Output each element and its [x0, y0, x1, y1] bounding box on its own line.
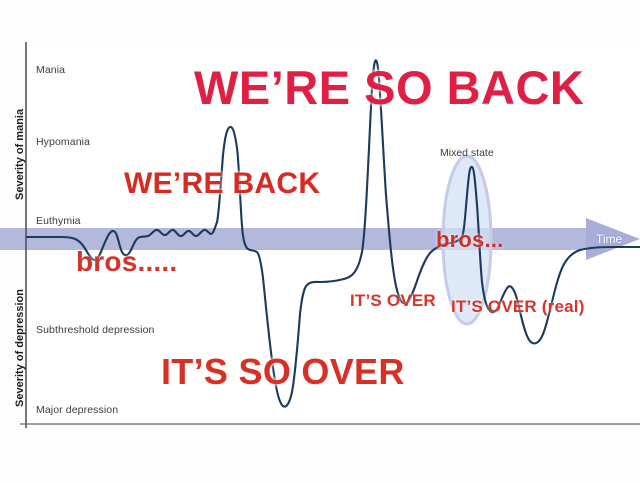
meme-were-so-back: WE’RE SO BACK	[194, 64, 584, 111]
y-axis-title-depression: Severity of depression	[14, 289, 26, 407]
meme-its-so-over: IT’S SO OVER	[161, 354, 405, 390]
y-tick-hypomania: Hypomania	[36, 136, 90, 148]
time-axis-label: Time	[596, 232, 622, 246]
y-axis-title-depression-label: Severity of depression	[14, 289, 26, 407]
meme-were-back: WE’RE BACK	[124, 169, 320, 199]
y-axis-title-mania-label: Severity of mania	[14, 109, 26, 200]
y-tick-subthreshold-depression: Subthreshold depression	[36, 324, 154, 336]
meme-bros-left: bros.....	[76, 248, 177, 276]
meme-its-over: IT’S OVER	[350, 292, 436, 309]
mood-chart-figure: Severity of mania Severity of depression…	[0, 0, 640, 483]
y-tick-mania: Mania	[36, 64, 65, 76]
meme-its-over-real: IT’S OVER (real)	[451, 298, 585, 315]
y-tick-major-depression: Major depression	[36, 404, 118, 416]
y-axis-title-mania: Severity of mania	[14, 109, 26, 200]
meme-bros-right: bros...	[436, 229, 503, 251]
y-tick-euthymia: Euthymia	[36, 215, 81, 227]
mixed-state-label: Mixed state	[440, 147, 494, 159]
